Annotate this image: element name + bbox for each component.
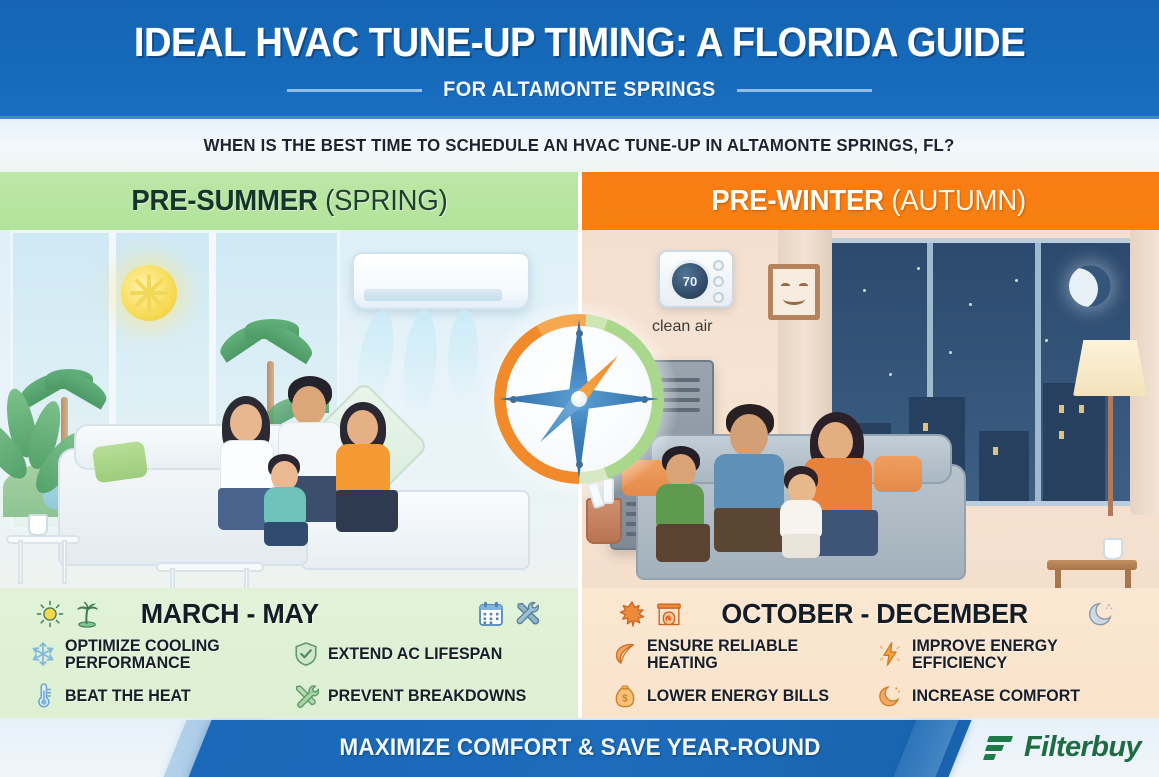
table-leg	[62, 540, 67, 584]
svg-text:$: $	[622, 693, 628, 704]
wrench-screwdriver-icon	[293, 682, 319, 712]
benefit-label: INCREASE COMFORT	[912, 688, 1080, 705]
right-details-panel: OCTOBER - DECEMBER ENSURE RELIAB	[578, 588, 1159, 718]
green-cushion	[92, 441, 149, 484]
lightning-bolt-icon	[877, 640, 903, 670]
thermostat-temperature: 70	[683, 274, 697, 289]
benefit-item: ENSURE RELIABLE HEATING	[612, 636, 875, 674]
palm-tree-icon	[73, 600, 101, 628]
airflow	[399, 309, 440, 421]
right-benefits-grid: ENSURE RELIABLE HEATING IMPROVE ENERGY E…	[578, 636, 1159, 716]
thermostat-dial[interactable]: 70	[669, 260, 711, 302]
moon-icon	[877, 682, 903, 712]
benefit-item: EXTEND AC LIFESPAN	[293, 636, 554, 674]
left-season-title: PRE-SUMMER (SPRING)	[131, 185, 447, 218]
question-band: WHEN IS THE BEST TIME TO SCHEDULE AN HVA…	[0, 119, 1159, 172]
shield-check-icon	[293, 640, 319, 670]
right-season-title: PRE-WINTER (AUTUMN)	[711, 185, 1026, 218]
left-month-icons-start	[36, 600, 101, 628]
left-details-panel: MARCH - MAY	[0, 588, 578, 718]
person-child-boy	[262, 454, 314, 544]
tools-icon	[514, 600, 542, 628]
person-child-boy	[656, 446, 714, 564]
ac-vent	[364, 289, 502, 301]
header-banner: IDEAL HVAC TUNE-UP TIMING: A FLORIDA GUI…	[0, 0, 1159, 119]
benefit-item: IMPROVE ENERGY EFFICIENCY	[877, 636, 1140, 674]
left-month-icons-end	[477, 600, 542, 628]
brand-logo[interactable]: Filterbuy	[984, 718, 1141, 777]
right-month-icons-end	[1087, 600, 1115, 628]
table-leg	[170, 568, 175, 588]
filterbuy-f-mark-icon	[984, 734, 1014, 762]
money-bag-icon: $	[612, 682, 638, 712]
right-month-icons-start	[618, 600, 683, 628]
right-season-main: PRE-WINTER	[711, 185, 884, 217]
benefit-item: INCREASE COMFORT	[877, 678, 1140, 716]
benefit-item: BEAT THE HEAT	[30, 678, 291, 716]
building	[1043, 383, 1105, 501]
compass-hub	[571, 391, 587, 407]
benefit-label: ENSURE RELIABLE HEATING	[647, 638, 868, 673]
benefit-item: PREVENT BREAKDOWNS	[293, 678, 554, 716]
person-daughter	[336, 402, 404, 538]
benefit-label: OPTIMIZE COOLING PERFORMANCE	[65, 638, 284, 673]
left-season-paren: (SPRING)	[325, 185, 447, 217]
coffee-mug	[28, 514, 48, 536]
right-season-paren: (AUTUMN)	[891, 185, 1026, 217]
building	[979, 431, 1029, 501]
benefit-item: OPTIMIZE COOLING PERFORMANCE	[30, 636, 291, 674]
snowflake-icon	[30, 640, 56, 670]
sun-icon	[121, 265, 177, 321]
left-season-header: PRE-SUMMER (SPRING)	[0, 172, 578, 230]
left-season-main: PRE-SUMMER	[131, 185, 317, 217]
person-toddler	[778, 466, 832, 560]
window-mullion	[1035, 243, 1041, 501]
question-text: WHEN IS THE BEST TIME TO SCHEDULE AN HVA…	[204, 135, 955, 156]
maple-leaf-icon	[618, 600, 646, 628]
benefit-label: PREVENT BREAKDOWNS	[328, 688, 526, 705]
sun-icon	[36, 600, 64, 628]
right-season-header: PRE-WINTER (AUTUMN)	[578, 172, 1159, 230]
table-leg	[1125, 568, 1131, 588]
rule-left	[287, 89, 422, 92]
footer-bar: MAXIMIZE COMFORT & SAVE YEAR-ROUND Filte…	[0, 718, 1159, 777]
floor-lamp-shade	[1073, 340, 1147, 396]
thermostat-button[interactable]	[713, 276, 724, 287]
thermometer-icon	[30, 682, 56, 712]
thermostat-button[interactable]	[713, 292, 724, 303]
airflow	[446, 310, 479, 403]
right-months: OCTOBER - DECEMBER	[721, 598, 1027, 630]
table-leg	[1055, 568, 1061, 588]
leaf-icon	[612, 640, 638, 670]
coffee-mug	[1103, 538, 1123, 560]
thermostat-button[interactable]	[713, 260, 724, 271]
subtitle-row: FOR ALTAMONTE SPRINGS	[0, 78, 1159, 102]
benefit-label: LOWER ENERGY BILLS	[647, 688, 829, 705]
brand-name: Filterbuy	[1024, 731, 1141, 764]
smiley-picture-frame	[768, 264, 820, 320]
left-benefits-grid: OPTIMIZE COOLING PERFORMANCE EXTEND AC L…	[0, 636, 578, 716]
left-months: MARCH - MAY	[141, 598, 319, 630]
mini-split-ac-unit	[352, 252, 530, 310]
moon-icon	[1069, 265, 1111, 307]
crescent-moon-icon	[1087, 600, 1115, 628]
left-month-row: MARCH - MAY	[0, 592, 578, 636]
thermostat[interactable]: 70	[658, 250, 734, 308]
page-title: IDEAL HVAC TUNE-UP TIMING: A FLORIDA GUI…	[41, 19, 1119, 66]
table-leg	[244, 568, 249, 588]
floor-lamp-pole	[1108, 396, 1113, 516]
footer-tagline: MAXIMIZE COMFORT & SAVE YEAR-ROUND	[223, 718, 937, 777]
benefit-label: EXTEND AC LIFESPAN	[328, 646, 502, 663]
benefit-label: BEAT THE HEAT	[65, 688, 191, 705]
benefit-label: IMPROVE ENERGY EFFICIENCY	[912, 638, 1133, 673]
waste-basket	[586, 498, 622, 544]
fireplace-icon	[655, 600, 683, 628]
infographic-root: IDEAL HVAC TUNE-UP TIMING: A FLORIDA GUI…	[0, 0, 1159, 777]
right-month-row: OCTOBER - DECEMBER	[578, 592, 1159, 636]
compass-rose	[494, 314, 664, 484]
page-subtitle: FOR ALTAMONTE SPRINGS	[443, 78, 716, 102]
table-leg	[18, 540, 23, 584]
rule-right	[737, 89, 872, 92]
calendar-icon	[477, 600, 505, 628]
benefit-item: $ LOWER ENERGY BILLS	[612, 678, 875, 716]
